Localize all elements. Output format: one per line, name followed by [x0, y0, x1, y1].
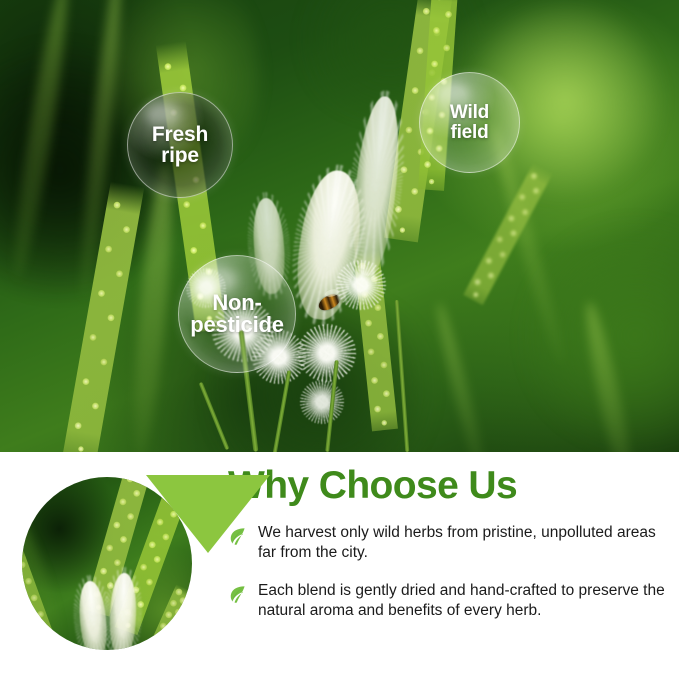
product-infographic: Freshripe Wildfield Non-pesticide [0, 0, 679, 679]
list-item: We harvest only wild herbs from pristine… [228, 523, 679, 564]
feature-bubble-label: Freshripe [152, 124, 208, 167]
flower-starburst [298, 324, 356, 382]
flower-starburst [300, 380, 344, 424]
page-title: Why Choose Us [228, 466, 679, 507]
feature-bubble-label: Non-pesticide [190, 292, 284, 337]
list-item: Each blend is gently dried and hand-craf… [228, 581, 679, 622]
leaf-icon [228, 584, 247, 608]
feature-bubble-label: Wildfield [450, 103, 489, 142]
list-item-text: Each blend is gently dried and hand-craf… [258, 581, 670, 622]
feature-bubble-non-pesticide[interactable]: Non-pesticide [178, 255, 296, 373]
benefits-list: We harvest only wild herbs from pristine… [228, 523, 679, 622]
background-stem [22, 507, 71, 650]
feature-bubble-fresh-ripe[interactable]: Freshripe [127, 92, 233, 198]
circle-product-photo [22, 477, 192, 650]
flower-starburst [336, 260, 386, 310]
white-flower-spike [109, 573, 138, 650]
feature-bubble-wild-field[interactable]: Wildfield [419, 72, 520, 173]
hero-photo: Freshripe Wildfield Non-pesticide [0, 0, 679, 452]
list-item-text: We harvest only wild herbs from pristine… [258, 523, 670, 564]
panel-content: Why Choose Us We harvest only wild herbs… [228, 466, 679, 622]
